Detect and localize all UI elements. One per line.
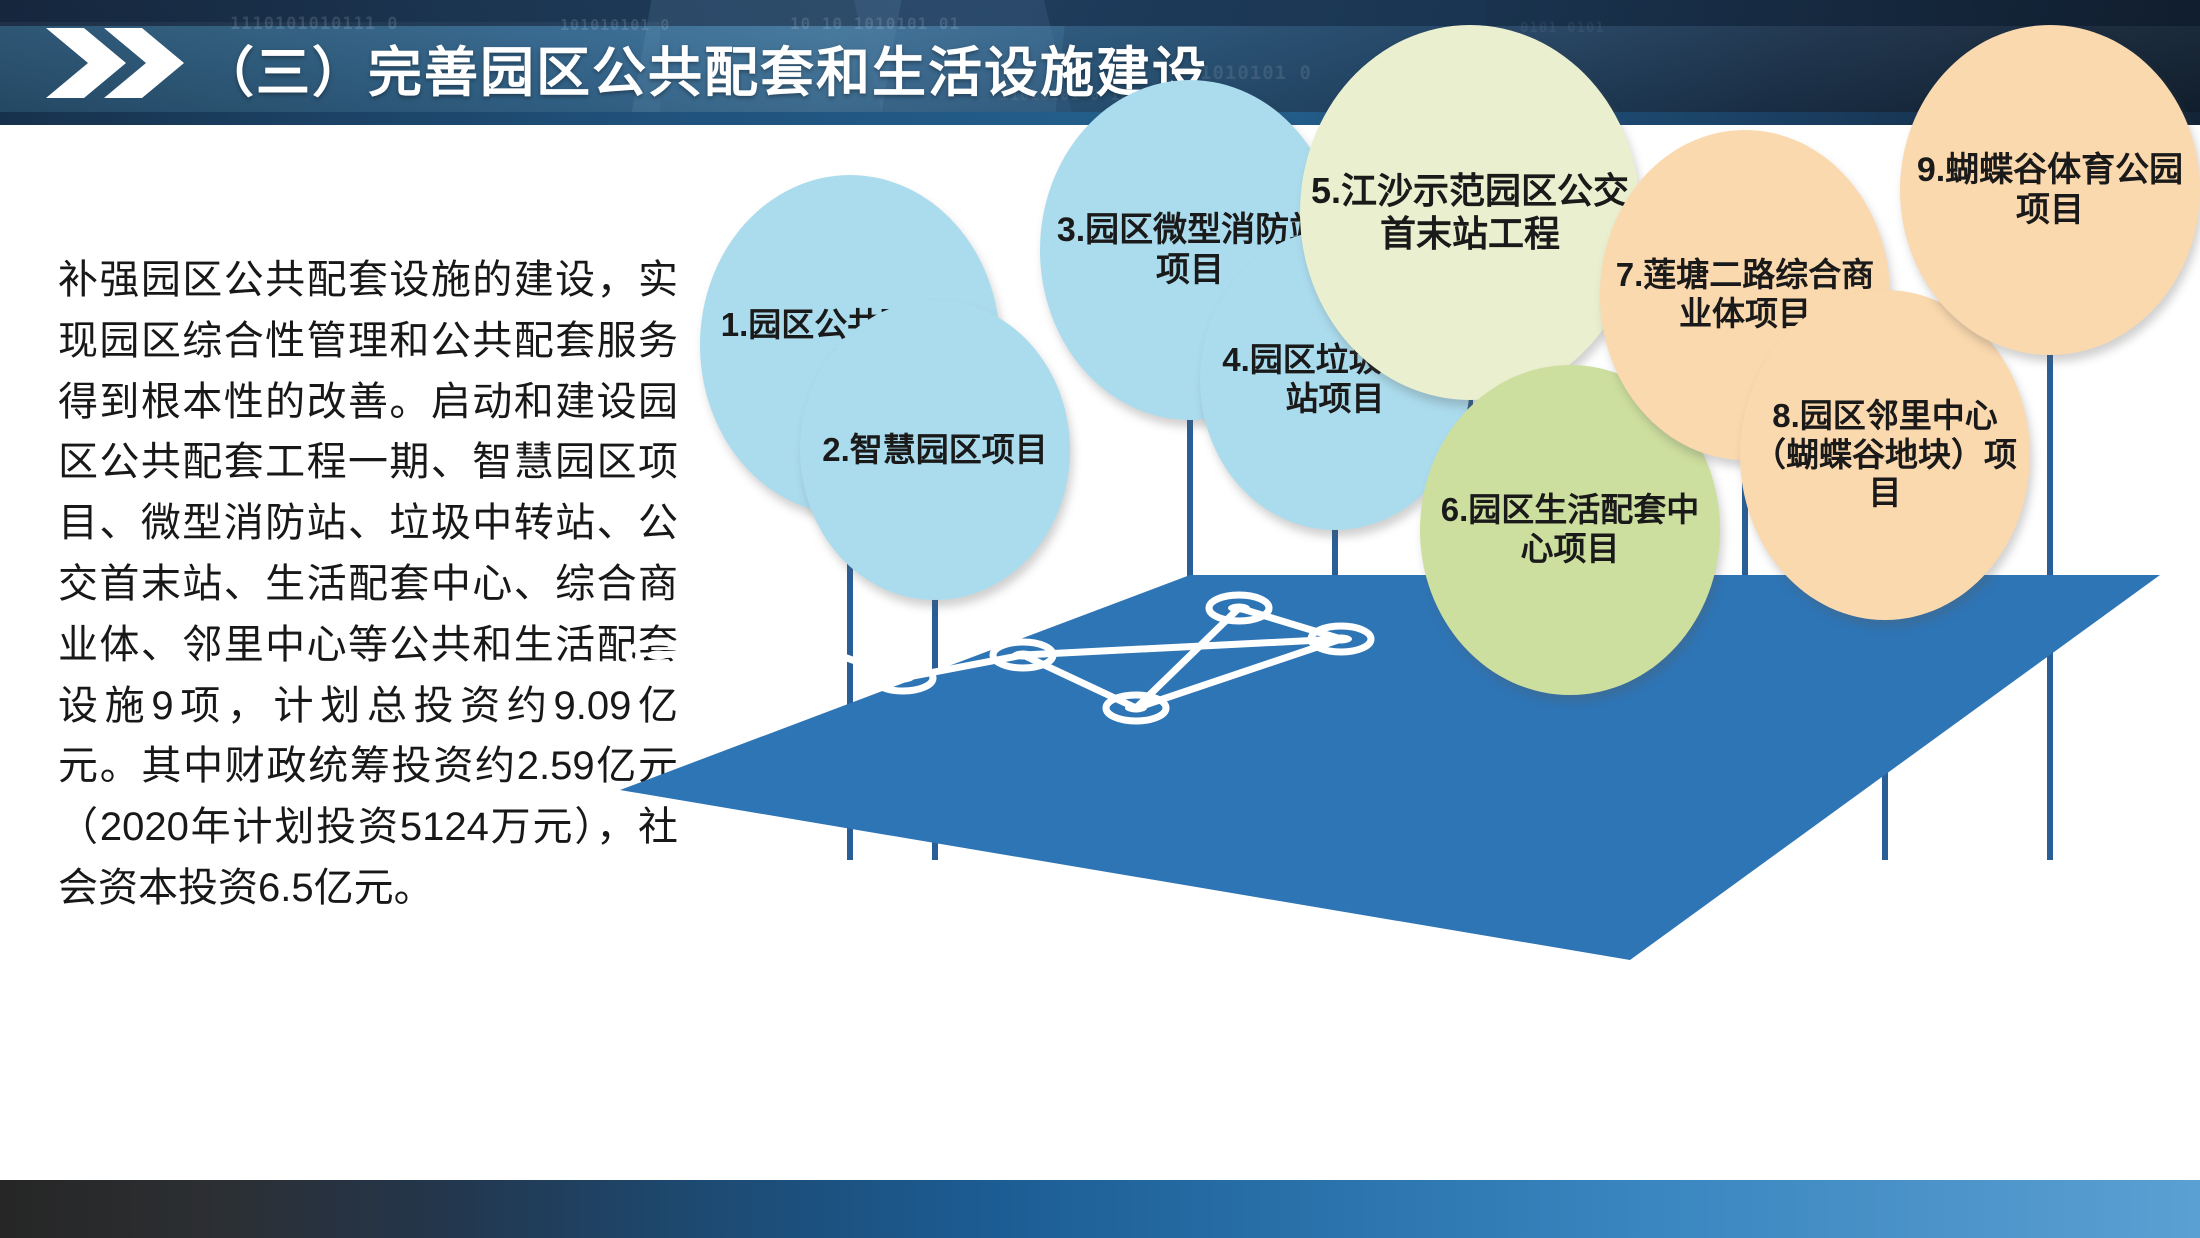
project-bubble-9[interactable]: 9.蝴蝶谷体育公园项目 (1900, 25, 2200, 355)
page-title: （三）完善园区公共配套和生活设施建设 (200, 28, 1208, 107)
project-bubble-label: 8.园区邻里中心（蝴蝶谷地块）项目 (1740, 397, 2030, 514)
project-bubble-label: 2.智慧园区项目 (812, 431, 1058, 470)
slide-footer-bar (0, 1180, 2200, 1238)
project-bubble-diagram: 1.园区公共配套工程2.智慧园区项目3.园区微型消防站项目4.园区垃圾中转站项目… (620, 170, 2180, 1130)
project-bubble-label: 5.江沙示范园区公交首末站工程 (1300, 170, 1640, 255)
project-bubble-5[interactable]: 5.江沙示范园区公交首末站工程 (1300, 25, 1640, 400)
body-paragraph: 补强园区公共配套设施的建设，实现园区综合性管理和公共配套服务得到根本性的改善。启… (58, 250, 678, 919)
slide-header: 1110101010111 0 101010101 0 10 10 101010… (0, 0, 2200, 125)
project-bubble-label: 6.园区生活配套中心项目 (1420, 491, 1720, 569)
project-bubble-label: 9.蝴蝶谷体育公园项目 (1900, 150, 2200, 230)
project-bubble-2[interactable]: 2.智慧园区项目 (800, 300, 1070, 600)
network-edge (813, 646, 903, 678)
double-chevron-right-icon (44, 26, 194, 100)
